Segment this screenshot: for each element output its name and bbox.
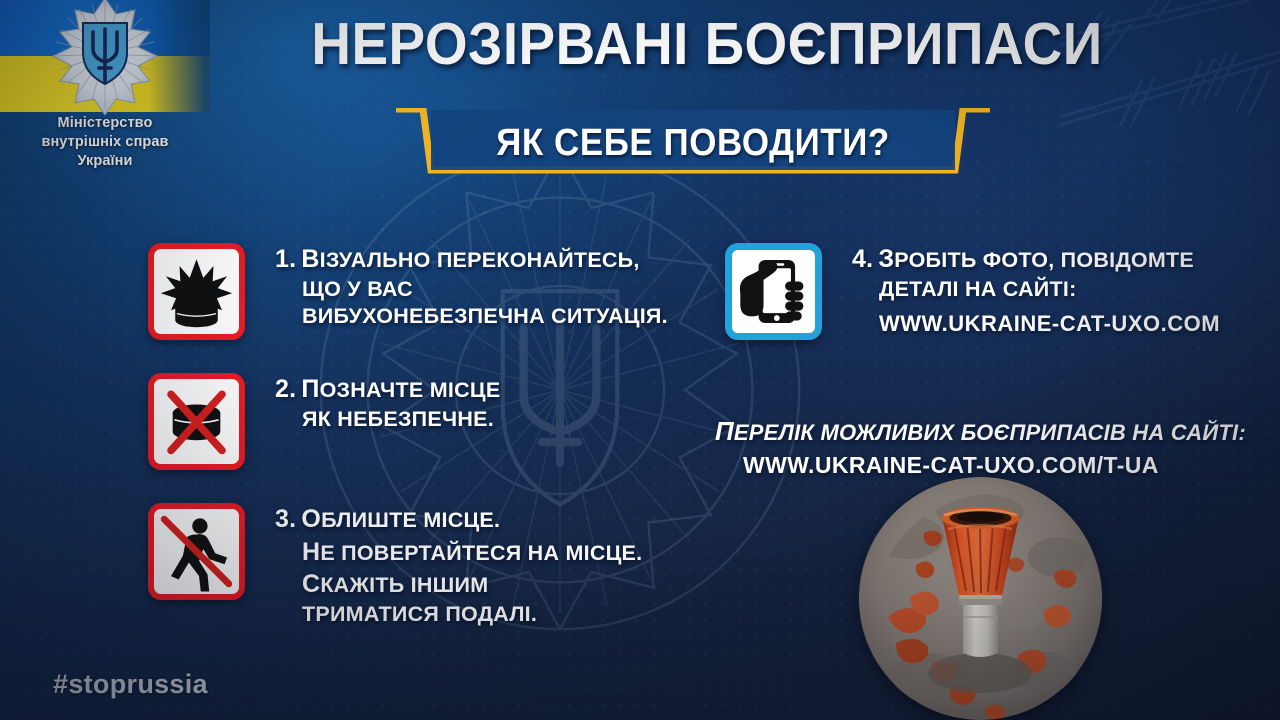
ministry-line-3: України: [0, 152, 210, 171]
ministry-line-2: внутрішніх справ: [0, 133, 210, 152]
infographic-poster: Міністерство внутрішніх справ України НЕ…: [0, 0, 1280, 720]
explosion-mine-icon: [148, 243, 245, 340]
step-1-number: 1.: [275, 245, 296, 273]
hand-holding-phone-icon: [725, 243, 822, 340]
note-line-1: ПЕРЕЛІК МОЖЛИВИХ БОЄПРИПАСІВ НА САЙТІ:: [715, 415, 1235, 449]
step-4-number: 4.: [852, 245, 873, 273]
ministry-logo-block: Міністерство внутрішніх справ України: [0, 0, 210, 195]
hashtag-stoprussia: #stoprussia: [53, 669, 208, 700]
step-item-2: 2.ПОЗНАЧТЕ МІСЦЕ ЯК НЕБЕЗПЕЧНЕ.: [148, 373, 500, 470]
step-2-number: 2.: [275, 375, 296, 403]
munitions-list-note: ПЕРЕЛІК МОЖЛИВИХ БОЄПРИПАСІВ НА САЙТІ: W…: [715, 415, 1235, 481]
step-3-text: 3.ОБЛИШТЕ МІСЦЕ. НЕ ПОВЕРТАЙТЕСЯ НА МІСЦ…: [275, 503, 642, 628]
step-item-4: 4.ЗРОБІТЬ ФОТО, ПОВІДОМТЕ ДЕТАЛІ НА САЙТ…: [725, 243, 1220, 345]
unexploded-ordnance-photo: [858, 477, 1103, 720]
subtitle-banner: ЯК СЕБЕ ПОВОДИТИ?: [393, 108, 993, 186]
mvs-emblem-icon: [45, 0, 165, 120]
poster-subtitle: ЯК СЕБЕ ПОВОДИТИ?: [417, 114, 969, 172]
ministry-caption: Міністерство внутрішніх справ України: [0, 114, 210, 171]
crossed-out-mine-icon: [148, 373, 245, 470]
step-item-3: 3.ОБЛИШТЕ МІСЦЕ. НЕ ПОВЕРТАЙТЕСЯ НА МІСЦ…: [148, 503, 642, 628]
step-3-number: 3.: [275, 505, 296, 533]
poster-title: НЕРОЗІРВАНІ БОЄПРИПАСИ: [293, 14, 1121, 74]
step-2-text: 2.ПОЗНАЧТЕ МІСЦЕ ЯК НЕБЕЗПЕЧНЕ.: [275, 373, 500, 433]
no-pedestrian-icon: [148, 503, 245, 600]
step-4-website-link[interactable]: WWW.UKRAINE-CAT-UXO.COM: [852, 303, 1220, 345]
step-item-1: 1.ВІЗУАЛЬНО ПЕРЕКОНАЙТЕСЬ, ЩО У ВАС ВИБУ…: [148, 243, 668, 340]
step-4-text: 4.ЗРОБІТЬ ФОТО, ПОВІДОМТЕ ДЕТАЛІ НА САЙТ…: [852, 243, 1220, 345]
step-1-text: 1.ВІЗУАЛЬНО ПЕРЕКОНАЙТЕСЬ, ЩО У ВАС ВИБУ…: [275, 243, 668, 331]
ministry-line-1: Міністерство: [0, 114, 210, 133]
